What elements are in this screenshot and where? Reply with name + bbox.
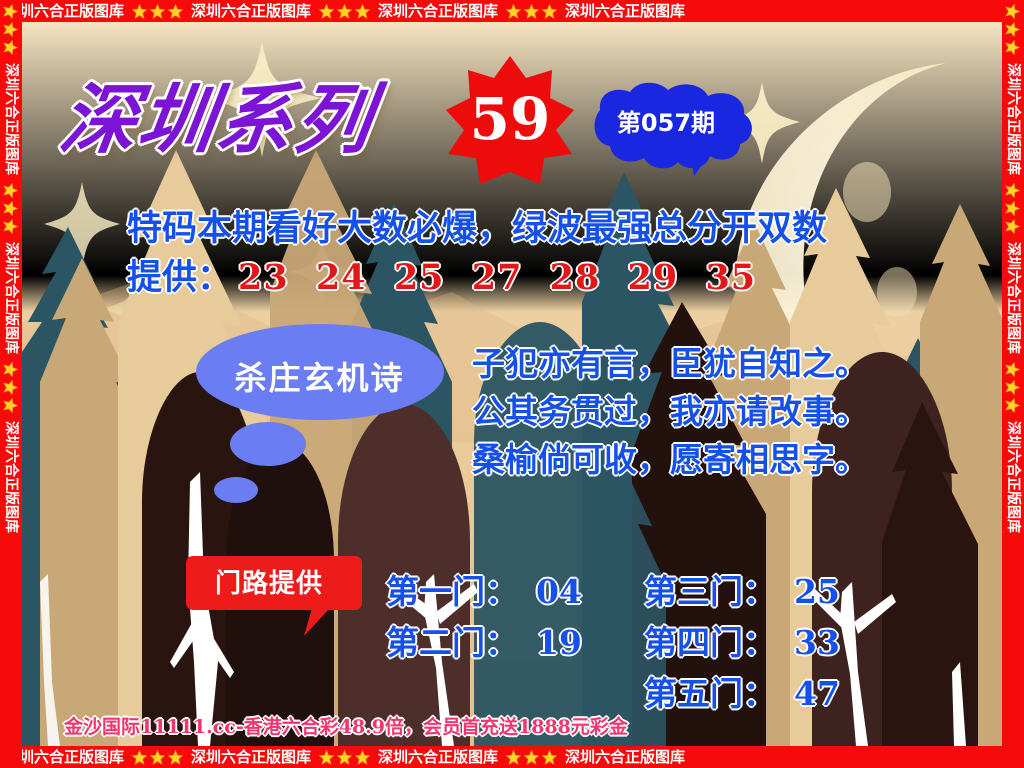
star-icon [1006,40,1021,55]
banner-text: 深圳六合正版图库 [0,59,22,179]
gate-row-3: 第三门：25 [644,565,840,613]
banner-text: 深圳六合正版图库 [187,0,315,22]
gate-name: 第三门： [644,572,776,611]
star-icon [355,750,370,765]
star-icon [1006,219,1021,234]
star-icon [132,750,147,765]
star-icon [132,4,147,19]
left-banner: 深圳六合正版图库 深圳六合正版图库 深圳六合正版图库 [0,0,22,768]
banner-text: 深圳六合正版图库 [0,417,22,537]
star-icon [506,4,521,19]
gate-value: 25 [794,572,840,611]
gate-value: 04 [536,572,582,611]
banner-stars [128,4,187,19]
gates-list: 第一门：04 第二门：19 第三门：25 第四门：33 第五门：47 [22,22,1002,746]
star-icon [168,4,183,19]
star-icon [1006,201,1021,216]
top-banner: 深圳六合正版图库 深圳六合正版图库 深圳六合正版图库 深圳六合正版图库 [0,0,1024,22]
gate-row-2: 第二门：19 [386,616,582,664]
gate-row-5: 第五门：47 [644,667,840,715]
poster-root: 深圳六合正版图库 深圳六合正版图库 深圳六合正版图库 深圳六合正版图库 深圳六合… [0,0,1024,768]
star-icon [4,362,19,377]
star-icon [150,750,165,765]
star-icon [337,4,352,19]
gate-value: 19 [536,623,582,662]
banner-stars [315,750,374,765]
banner-stars [1006,358,1021,417]
banner-stars [4,0,19,59]
banner-text: 深圳六合正版图库 [561,746,689,768]
star-icon [1006,380,1021,395]
star-icon [1006,183,1021,198]
banner-text: 深圳六合正版图库 [1002,417,1024,537]
star-icon [4,398,19,413]
banner-text: 深圳六合正版图库 [374,746,502,768]
banner-text: 深圳六合正版图库 [1002,59,1024,179]
banner-stars [502,4,561,19]
star-icon [542,750,557,765]
star-icon [524,750,539,765]
star-icon [4,219,19,234]
star-icon [506,750,521,765]
star-icon [319,4,334,19]
banner-text: 深圳六合正版图库 [0,238,22,358]
star-icon [4,40,19,55]
star-icon [4,22,19,37]
star-icon [1006,398,1021,413]
poster-artwork: 59 第057期 深圳系列 特码本期看好大数必爆，绿波最强总分开双数 提供： 2… [22,22,1002,746]
gate-row-1: 第一门：04 [386,565,582,613]
banner-text: 深圳六合正版图库 [187,746,315,768]
star-icon [1006,362,1021,377]
star-icon [168,750,183,765]
star-icon [524,4,539,19]
gate-name: 第二门： [386,623,518,662]
star-icon [150,4,165,19]
star-icon [355,4,370,19]
banner-stars [128,750,187,765]
star-icon [4,380,19,395]
star-icon [542,4,557,19]
footer-promo-text: 金沙国际11111.cc-香港六合彩48.9倍，会员首充送1888元彩金 [64,712,628,739]
star-icon [1006,4,1021,19]
banner-text: 深圳六合正版图库 [561,0,689,22]
star-icon [4,183,19,198]
gate-row-4: 第四门：33 [644,616,840,664]
star-icon [1006,22,1021,37]
gate-name: 第四门： [644,623,776,662]
bottom-banner: 深圳六合正版图库 深圳六合正版图库 深圳六合正版图库 深圳六合正版图库 [0,746,1024,768]
gate-name: 第一门： [386,572,518,611]
star-icon [4,201,19,216]
right-banner: 深圳六合正版图库 深圳六合正版图库 深圳六合正版图库 [1002,0,1024,768]
gate-name: 第五门： [644,674,776,713]
banner-stars [1006,179,1021,238]
banner-text: 深圳六合正版图库 [374,0,502,22]
star-icon [337,750,352,765]
banner-stars [502,750,561,765]
banner-stars [1006,0,1021,59]
gate-value: 33 [794,623,840,662]
gate-value: 47 [794,674,840,713]
star-icon [4,4,19,19]
banner-text: 深圳六合正版图库 [1002,238,1024,358]
banner-stars [4,358,19,417]
star-icon [319,750,334,765]
banner-stars [4,179,19,238]
banner-stars [315,4,374,19]
